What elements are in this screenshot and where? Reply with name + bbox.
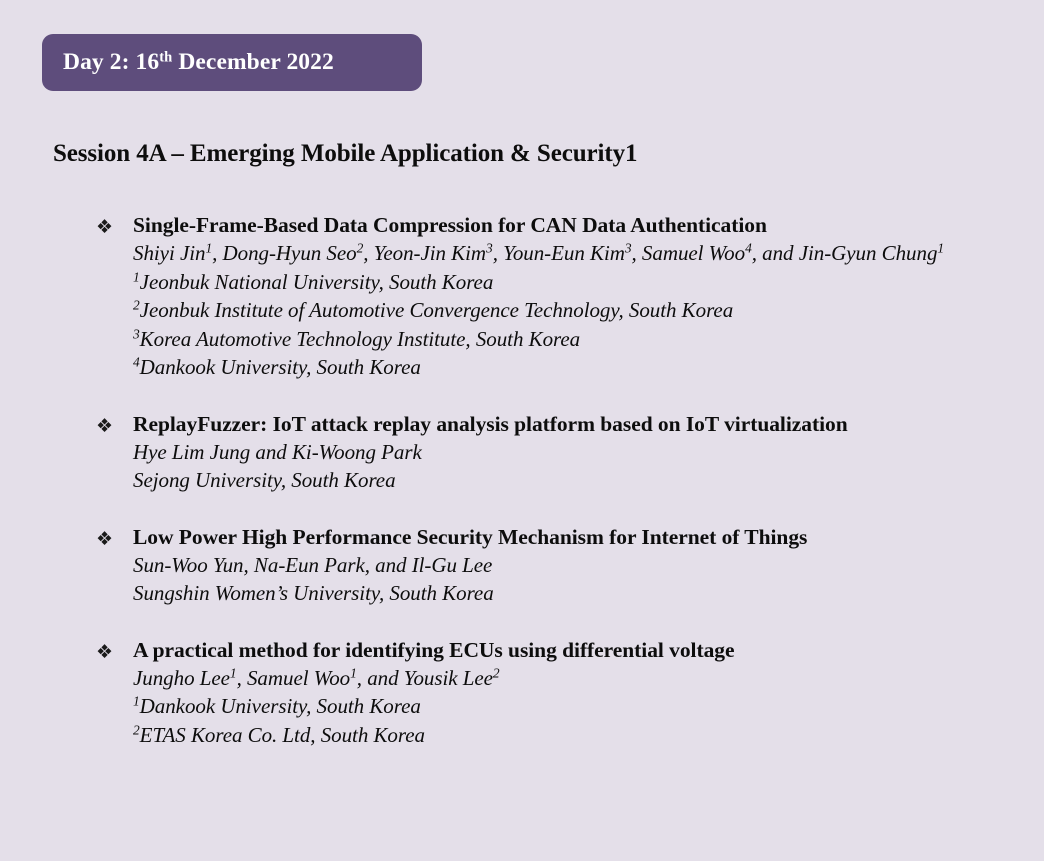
author-name: , and Yousik Lee [357,666,493,690]
author-name: Shiyi Jin [133,241,205,265]
affiliation-marker: 1 [133,269,140,284]
author-affiliation-marker: 3 [625,241,632,256]
affiliation-marker: 4 [133,355,140,370]
affiliation-list: 1Dankook University, South Korea2ETAS Ko… [133,692,1044,749]
diamond-bullet-icon: ❖ [96,415,120,437]
affiliation-marker: 3 [133,326,140,341]
paper-title: ReplayFuzzer: IoT attack replay analysis… [133,411,1013,438]
affiliation-line: Sungshin Women’s University, South Korea [133,579,1013,608]
affiliation-line: 2ETAS Korea Co. Ltd, South Korea [133,721,1013,750]
author-affiliation-marker: 3 [486,241,493,256]
program-page: Day 2: 16th December 2022 Session 4A – E… [0,0,1044,861]
affiliation-line: 1Dankook University, South Korea [133,692,1013,721]
author-affiliation-marker: 4 [745,241,752,256]
author-name: Sun-Woo Yun, Na-Eun Park, and Il-Gu Lee [133,553,492,577]
diamond-bullet-icon: ❖ [96,641,120,663]
date-badge-superscript: th [159,49,172,65]
affiliation-line: 2Jeonbuk Institute of Automotive Converg… [133,296,1013,325]
affiliation-name: Sejong University, South Korea [133,468,396,492]
paper-authors: Jungho Lee1, Samuel Woo1, and Yousik Lee… [133,664,1005,693]
author-name: Hye Lim Jung and Ki-Woong Park [133,440,422,464]
affiliation-name: ETAS Korea Co. Ltd, South Korea [140,723,425,747]
diamond-bullet-icon: ❖ [96,528,120,550]
author-name: Jungho Lee [133,666,230,690]
paper-title: Single-Frame-Based Data Compression for … [133,212,1013,239]
affiliation-name: Dankook University, South Korea [140,355,421,379]
affiliation-name: Korea Automotive Technology Institute, S… [140,327,580,351]
author-name: , and Jin-Gyun Chung [752,241,938,265]
author-name: , Samuel Woo [237,666,351,690]
paper-list: ❖Single-Frame-Based Data Compression for… [0,212,1044,749]
affiliation-marker: 1 [133,694,140,709]
author-name: , Yeon-Jin Kim [363,241,486,265]
diamond-bullet-icon: ❖ [96,216,120,238]
author-affiliation-marker: 1 [350,665,357,680]
affiliation-line: 1Jeonbuk National University, South Kore… [133,268,1013,297]
paper-title: Low Power High Performance Security Mech… [133,524,1013,551]
author-affiliation-marker: 2 [493,665,500,680]
paper-entry: ❖Single-Frame-Based Data Compression for… [0,212,1044,382]
paper-entry: ❖Low Power High Performance Security Mec… [0,524,1044,608]
affiliation-name: Sungshin Women’s University, South Korea [133,581,494,605]
date-badge: Day 2: 16th December 2022 [42,34,422,91]
paper-authors: Sun-Woo Yun, Na-Eun Park, and Il-Gu Lee [133,551,1005,580]
date-badge-label: Day 2: 16th December 2022 [63,49,334,76]
affiliation-name: Jeonbuk Institute of Automotive Converge… [140,298,733,322]
date-badge-prefix: Day 2: 16 [63,49,159,75]
affiliation-list: Sejong University, South Korea [133,466,1044,495]
affiliation-list: Sungshin Women’s University, South Korea [133,579,1044,608]
paper-title: A practical method for identifying ECUs … [133,637,1013,664]
paper-authors: Shiyi Jin1, Dong-Hyun Seo2, Yeon-Jin Kim… [133,239,1005,268]
affiliation-name: Jeonbuk National University, South Korea [140,270,494,294]
paper-entry: ❖A practical method for identifying ECUs… [0,637,1044,750]
author-name: , Samuel Woo [632,241,746,265]
author-name: , Dong-Hyun Seo [212,241,356,265]
affiliation-line: Sejong University, South Korea [133,466,1013,495]
affiliation-name: Dankook University, South Korea [140,694,421,718]
paper-authors: Hye Lim Jung and Ki-Woong Park [133,438,1005,467]
date-badge-suffix: December 2022 [172,49,334,75]
session-heading: Session 4A – Emerging Mobile Application… [53,140,637,168]
author-affiliation-marker: 1 [230,665,237,680]
author-affiliation-marker: 1 [937,241,944,256]
paper-entry: ❖ReplayFuzzer: IoT attack replay analysi… [0,411,1044,495]
affiliation-line: 4Dankook University, South Korea [133,353,1013,382]
affiliation-marker: 2 [133,722,140,737]
affiliation-marker: 2 [133,298,140,313]
affiliation-line: 3Korea Automotive Technology Institute, … [133,325,1013,354]
affiliation-list: 1Jeonbuk National University, South Kore… [133,268,1044,382]
author-name: , Youn-Eun Kim [493,241,625,265]
